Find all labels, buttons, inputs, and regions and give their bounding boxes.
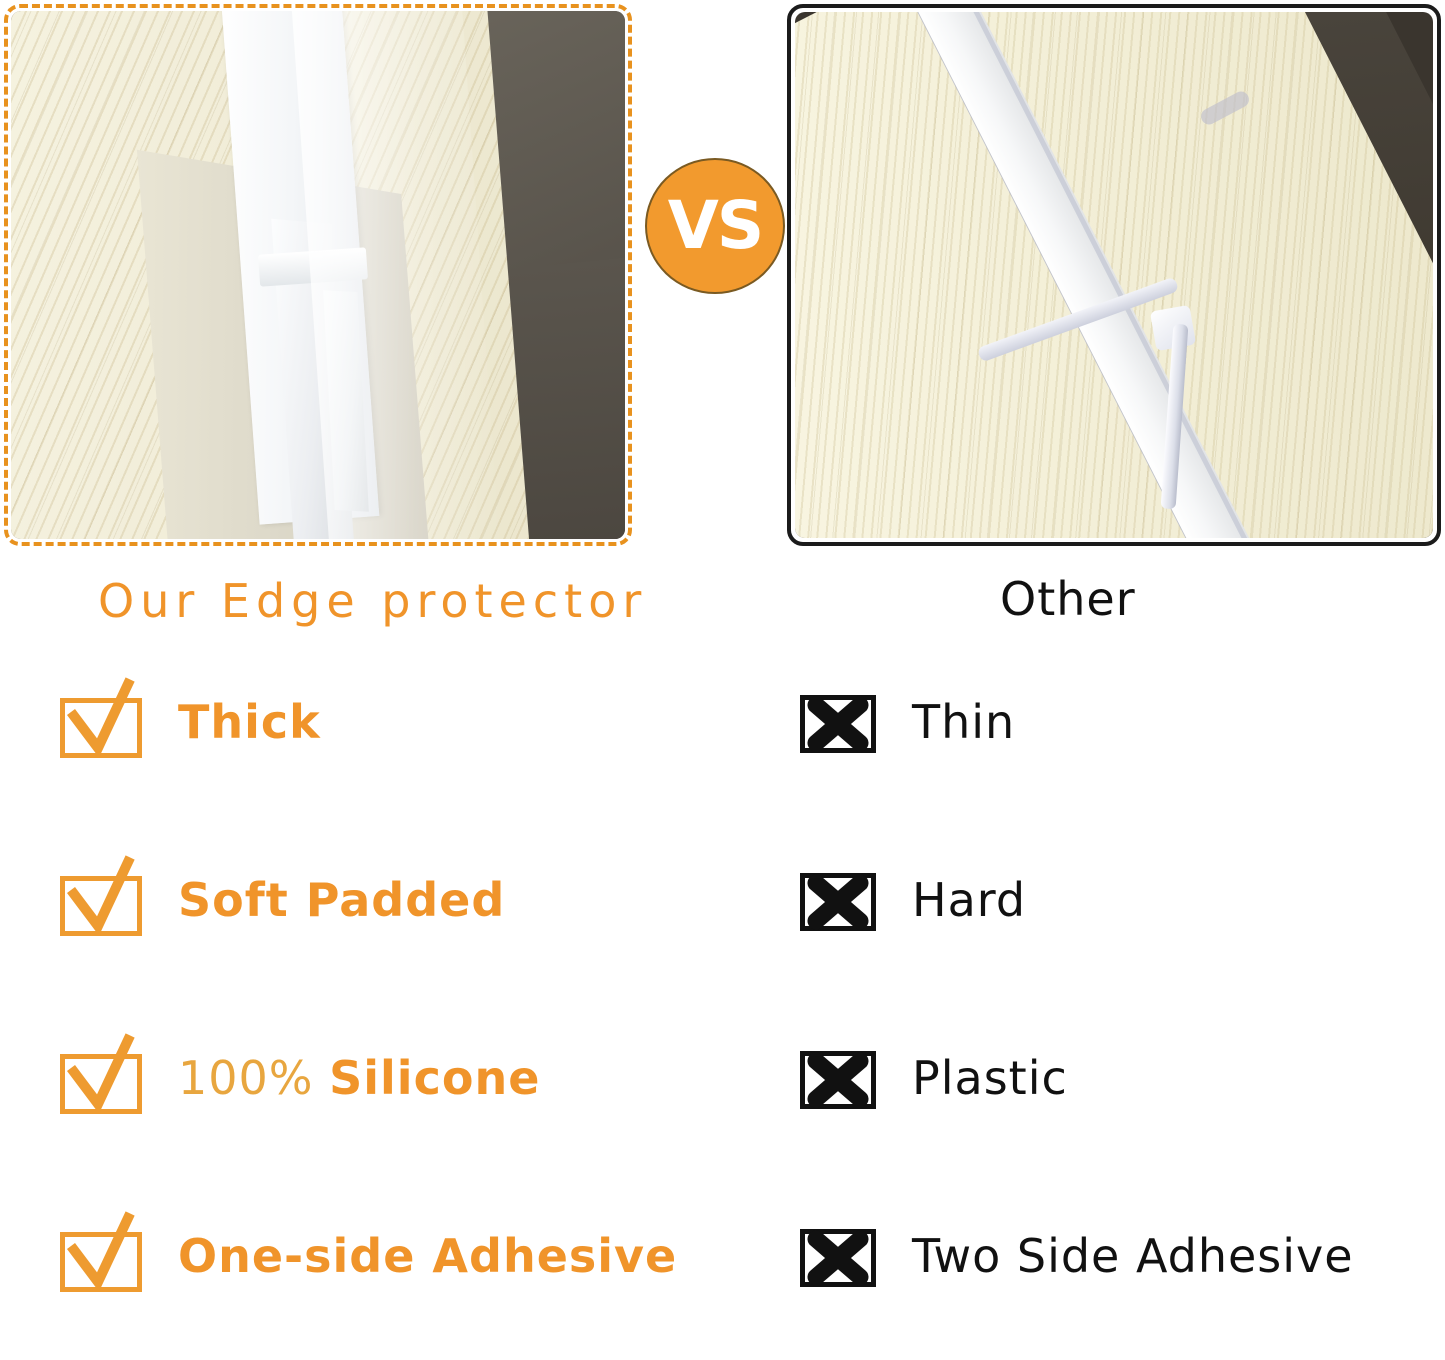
ours-column-heading: Our Edge protector	[98, 574, 647, 628]
checkmark-icon	[60, 864, 142, 936]
feature-label: Thin	[912, 695, 1015, 749]
other-product-photo	[795, 12, 1433, 538]
feature-row: Thick	[60, 670, 321, 774]
column-headings: Our Edge protector Other	[0, 560, 1445, 670]
feature-row: Two Side Adhesive	[800, 1204, 1354, 1308]
vs-badge-label: VS	[668, 193, 763, 259]
cross-icon	[800, 1225, 876, 1287]
feature-row: 100% Silicone	[60, 1026, 540, 1130]
feature-row: Thin	[800, 670, 1015, 774]
feature-label-prefix: 100%	[178, 1051, 329, 1105]
ours-product-photo-frame	[4, 4, 632, 546]
checkmark-icon	[60, 1042, 142, 1114]
feature-label: Thick	[178, 695, 321, 749]
other-column-heading: Other	[1000, 572, 1136, 626]
feature-row: Soft Padded	[60, 848, 505, 952]
photo-comparison-area: VS	[0, 0, 1445, 560]
feature-label: One-side Adhesive	[178, 1229, 677, 1283]
feature-label: Plastic	[912, 1051, 1068, 1105]
feature-label: 100% Silicone	[178, 1051, 540, 1105]
checkmark-icon	[60, 1220, 142, 1292]
cross-icon	[800, 869, 876, 931]
cross-icon	[800, 691, 876, 753]
ours-product-photo	[11, 11, 625, 539]
feature-row: Plastic	[800, 1026, 1068, 1130]
checkmark-icon	[60, 686, 142, 758]
feature-label: Hard	[912, 873, 1026, 927]
feature-comparison-list: Thick Soft Padded 100% Silicone	[0, 670, 1445, 1360]
other-product-photo-frame	[787, 4, 1441, 546]
cross-icon	[800, 1047, 876, 1109]
feature-row: One-side Adhesive	[60, 1204, 677, 1308]
feature-row: Hard	[800, 848, 1026, 952]
feature-label: Soft Padded	[178, 873, 505, 927]
feature-label: Two Side Adhesive	[912, 1229, 1354, 1283]
vs-badge: VS	[645, 158, 785, 294]
feature-label-main: Silicone	[329, 1051, 540, 1105]
